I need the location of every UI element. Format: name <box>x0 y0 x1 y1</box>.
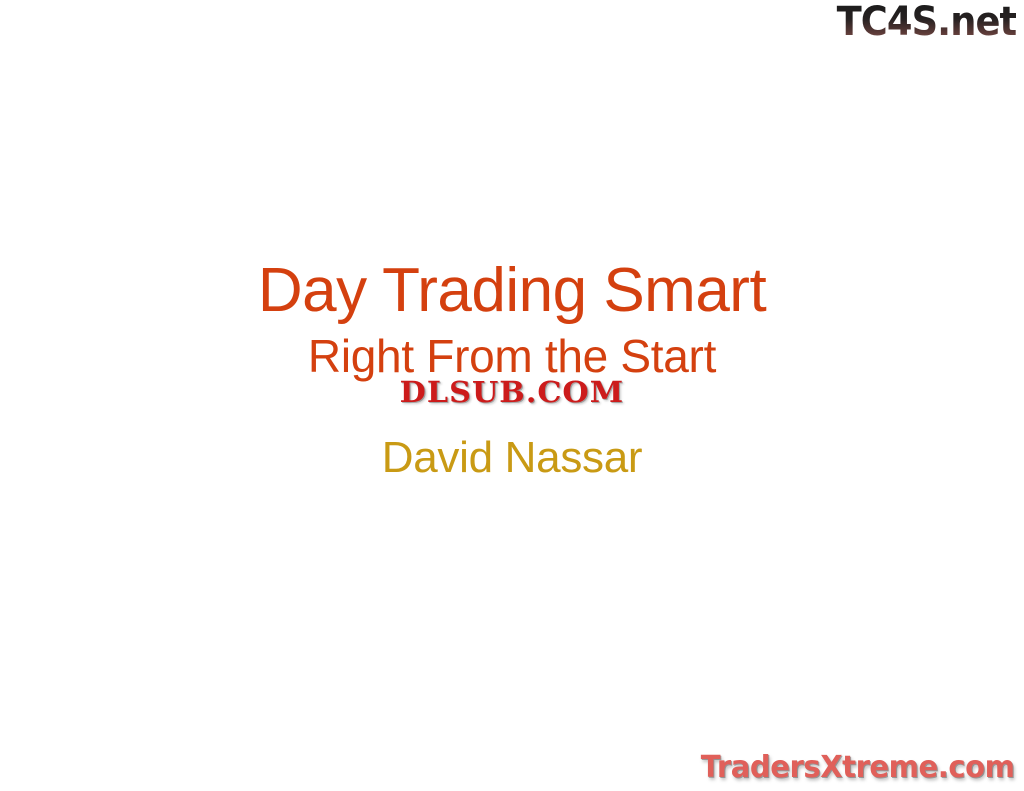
author-name: David Nassar <box>0 434 1024 482</box>
title-block: Day Trading Smart Right From the Start <box>0 258 1024 382</box>
tradersxtreme-watermark: TradersXtreme.com <box>700 753 1014 783</box>
dlsub-watermark-text: DLSUB.COM <box>400 378 624 407</box>
presentation-slide: TC4S.net Day Trading Smart Right From th… <box>0 0 1024 791</box>
dlsub-watermark: DLSUB.COM <box>0 378 1024 407</box>
tc4s-site-logo: TC4S.net <box>836 2 1016 42</box>
page-title: Day Trading Smart <box>0 258 1024 325</box>
page-subtitle: Right From the Start <box>0 331 1024 382</box>
